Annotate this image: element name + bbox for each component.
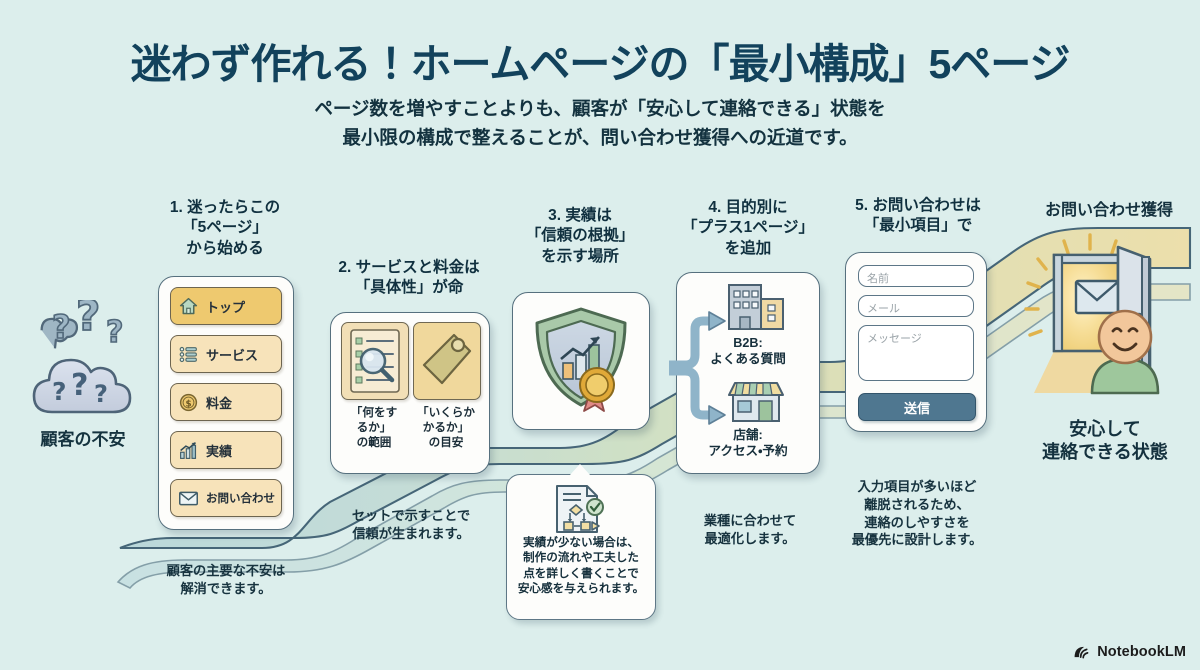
step-4-title-line-1: 4. 目的別に — [672, 198, 824, 218]
branch-b2b-label: B2B: よくある質問 — [688, 335, 808, 368]
step-3-title-line-2: 「信頼の根拠」 — [505, 226, 655, 246]
menu-item-results[interactable]: 実績 — [170, 431, 282, 469]
callout-line: 安心感を与えられます。 — [511, 581, 651, 596]
name-field[interactable]: 名前 — [858, 265, 974, 287]
step-4-caption: 業種に合わせて 最適化します。 — [680, 512, 820, 548]
step-2-title-line-1: 2. サービスと料金は — [313, 258, 505, 278]
menu-item-pricing[interactable]: $ 料金 — [170, 383, 282, 421]
branch-label-line: アクセス・予約 — [688, 443, 808, 459]
step-4-title: 4. 目的別に 「プラス1ページ」 を追加 — [672, 198, 824, 259]
submit-button[interactable]: 送信 — [858, 393, 976, 421]
step-5-caption-line-4: 最優先に設計します。 — [842, 531, 992, 549]
svg-text:?: ? — [52, 308, 71, 346]
home-icon — [178, 296, 199, 317]
branch-store-label: 店舗: アクセス・予約 — [688, 427, 808, 460]
footer-branding: NotebookLM — [1072, 644, 1186, 660]
branch-label-line: 店舗: — [688, 427, 808, 443]
step-5-caption-line-1: 入力項目が多いほど — [842, 478, 992, 496]
caption-line: 「何をす — [339, 405, 409, 420]
step-3-title: 3. 実績は 「信頼の根拠」 を示す場所 — [505, 206, 655, 267]
step-3-callout: 実績が少ない場合は、 制作の流れや工夫した 点を詳しく書くことで 安心感を与えら… — [506, 474, 656, 620]
page-title: 迷わず作れる！ホームページの「最小構成」5ページ — [0, 30, 1200, 90]
goal-bottom-line-2: 連絡できる状態 — [1010, 441, 1200, 464]
start-label: 顧客の不安 — [8, 425, 158, 450]
subtitle-line-2: 最小限の構成で整えることが、問い合わせ獲得への近道です。 — [0, 124, 1200, 153]
step-2-caption-line-1: セットで示すことで — [326, 507, 496, 525]
price-tag-icon — [414, 323, 480, 399]
step-1-title-line-2: 「5ページ」 — [150, 218, 300, 238]
coin-icon: $ — [178, 392, 199, 413]
goal-bottom-line-1: 安心して — [1010, 418, 1200, 441]
document-flow-check-icon — [551, 483, 611, 535]
step-4-caption-line-2: 最適化します。 — [680, 530, 820, 548]
svg-text:?: ? — [52, 377, 67, 406]
menu-item-label: 実績 — [206, 441, 232, 460]
step-4-caption-line-1: 業種に合わせて — [680, 512, 820, 530]
callout-text: 実績が少ない場合は、 制作の流れや工夫した 点を詳しく書くことで 安心感を与えら… — [511, 535, 651, 597]
service-scope-tile — [341, 322, 409, 400]
step-5-card: 名前 メール メッセージ 送信 — [845, 252, 987, 432]
step-4-title-line-3: を追加 — [672, 239, 824, 259]
notebooklm-icon — [1072, 644, 1091, 660]
caption-line: の目安 — [411, 435, 481, 450]
svg-text:?: ? — [94, 380, 108, 408]
branch-label-line: B2B: — [688, 335, 808, 351]
page-subtitle: ページ数を増やすことよりも、顧客が「安心して連絡できる」状態を 最小限の構成で整… — [0, 95, 1200, 152]
menu-item-label: お問い合わせ — [206, 490, 275, 506]
step-4-title-line-2: 「プラス1ページ」 — [672, 218, 824, 238]
shield-chart-award-icon — [513, 293, 649, 429]
footer-label: NotebookLM — [1097, 644, 1186, 660]
step-5-caption: 入力項目が多いほど 離脱されるため、 連絡のしやすさを 最優先に設計します。 — [842, 478, 992, 549]
step-5-caption-line-3: 連絡のしやすさを — [842, 514, 992, 532]
step-1-caption-line-2: 解消できます。 — [147, 580, 305, 598]
callout-line: 実績が少ない場合は、 — [511, 535, 651, 550]
caption-line: かるか」 — [411, 420, 481, 435]
list-icon — [178, 344, 199, 365]
svg-text:$: $ — [185, 399, 191, 409]
caption-line: の範囲 — [339, 435, 409, 450]
step-1-title-line-1: 1. 迷ったらこの — [150, 198, 300, 218]
chart-icon — [178, 440, 199, 461]
step-2-caption-line-2: 信頼が生まれます。 — [326, 525, 496, 543]
step-5-title-line-2: 「最小項目」で — [838, 216, 998, 236]
menu-item-top[interactable]: トップ — [170, 287, 282, 325]
price-guide-tile — [413, 322, 481, 400]
step-2-title: 2. サービスと料金は 「具体性」が命 — [313, 258, 505, 299]
price-guide-caption: 「いくらか かるか」 の目安 — [411, 405, 481, 450]
callout-line: 制作の流れや工夫した — [511, 550, 651, 565]
message-field[interactable]: メッセージ — [858, 325, 974, 381]
step-5-title: 5. お問い合わせは 「最小項目」で — [838, 196, 998, 237]
step-3-title-line-3: を示す場所 — [505, 247, 655, 267]
step-5-caption-line-2: 離脱されるため、 — [842, 496, 992, 514]
goal-top-label: お問い合わせ獲得 — [1018, 196, 1200, 220]
menu-item-contact[interactable]: お問い合わせ — [170, 479, 282, 517]
menu-item-services[interactable]: サービス — [170, 335, 282, 373]
step-1-caption: 顧客の主要な不安は 解消できます。 — [147, 562, 305, 598]
service-scope-caption: 「何をす るか」 の範囲 — [339, 405, 409, 450]
svg-text:?: ? — [76, 300, 100, 340]
callout-line: 点を詳しく書くことで — [511, 566, 651, 581]
email-field[interactable]: メール — [858, 295, 974, 317]
infographic-canvas: 迷わず作れる！ホームページの「最小構成」5ページ ページ数を増やすことよりも、顧… — [0, 0, 1200, 670]
storefront-icon — [723, 377, 789, 423]
envelope-icon — [178, 488, 199, 509]
step-2-title-line-2: 「具体性」が命 — [313, 278, 505, 298]
step-1-caption-line-1: 顧客の主要な不安は — [147, 562, 305, 580]
step-2-caption: セットで示すことで 信頼が生まれます。 — [326, 507, 496, 543]
step-4-card: B2B: よくある質問 店舗: アクセス・予約 — [676, 272, 820, 474]
menu-item-label: 料金 — [206, 393, 232, 412]
caption-line: 「いくらか — [411, 405, 481, 420]
menu-item-label: トップ — [206, 297, 245, 316]
step-5-title-line-1: 5. お問い合わせは — [838, 196, 998, 216]
step-2-card: 「何をす るか」 の範囲 「いくらか かるか」 の目安 — [330, 312, 490, 474]
document-magnifier-icon — [342, 323, 408, 399]
step-1-card: トップ サービス $ 料金 — [158, 276, 294, 530]
menu-item-label: サービス — [206, 345, 258, 364]
callout-tail — [569, 464, 591, 476]
svg-text:?: ? — [71, 368, 88, 403]
step-1-title-line-3: から始める — [150, 239, 300, 259]
branch-label-line: よくある質問 — [688, 351, 808, 367]
step-1-title: 1. 迷ったらこの 「5ページ」 から始める — [150, 198, 300, 259]
subtitle-line-1: ページ数を増やすことよりも、顧客が「安心して連絡できる」状態を — [0, 95, 1200, 124]
caption-line: るか」 — [339, 420, 409, 435]
open-door-mail-person-icon — [1020, 225, 1200, 435]
goal-bottom-label: 安心して 連絡できる状態 — [1010, 418, 1200, 465]
step-3-title-line-1: 3. 実績は — [505, 206, 655, 226]
svg-text:?: ? — [106, 315, 123, 350]
step-3-card — [512, 292, 650, 430]
office-building-icon — [723, 281, 789, 331]
